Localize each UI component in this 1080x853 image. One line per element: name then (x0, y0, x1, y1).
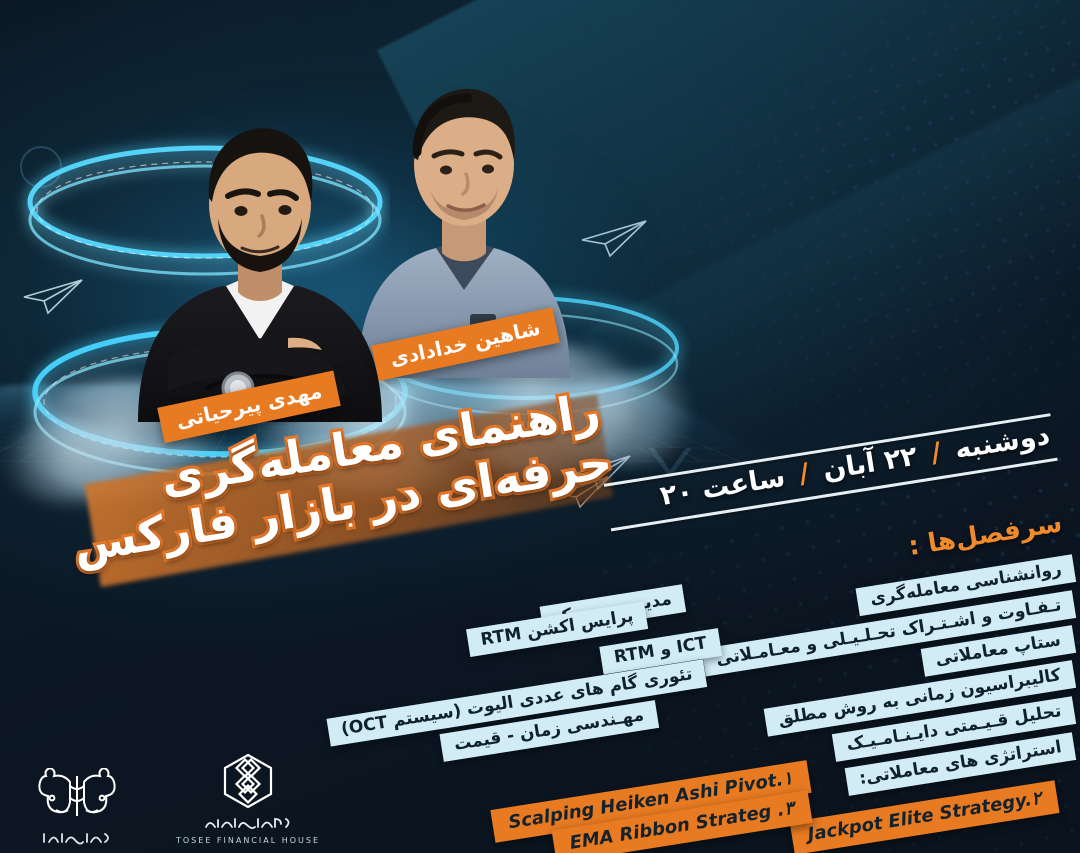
logo-tosee-caption: TOSEE FINANCIAL HOUSE (176, 836, 320, 845)
date-separator-2: / (792, 457, 816, 491)
circle-outline-decoration (20, 146, 62, 188)
bull-heads-mark-icon (34, 768, 120, 826)
speaker-photo-mehdi (110, 92, 410, 422)
tosee-financial-house-script-icon (202, 815, 294, 831)
bulls-script-icon (40, 831, 114, 845)
logo-bulls (34, 768, 120, 845)
logo-tosee-financial-house: TOSEE FINANCIAL HOUSE (176, 752, 320, 845)
webinar-poster: شاهین خدادادی مهدی پیرحیاتی راهنمای معام… (0, 0, 1080, 853)
date-separator-1: / (924, 436, 948, 470)
tosee-financial-house-mark-icon (219, 752, 277, 810)
sponsor-logos: TOSEE FINANCIAL HOUSE (34, 752, 320, 845)
